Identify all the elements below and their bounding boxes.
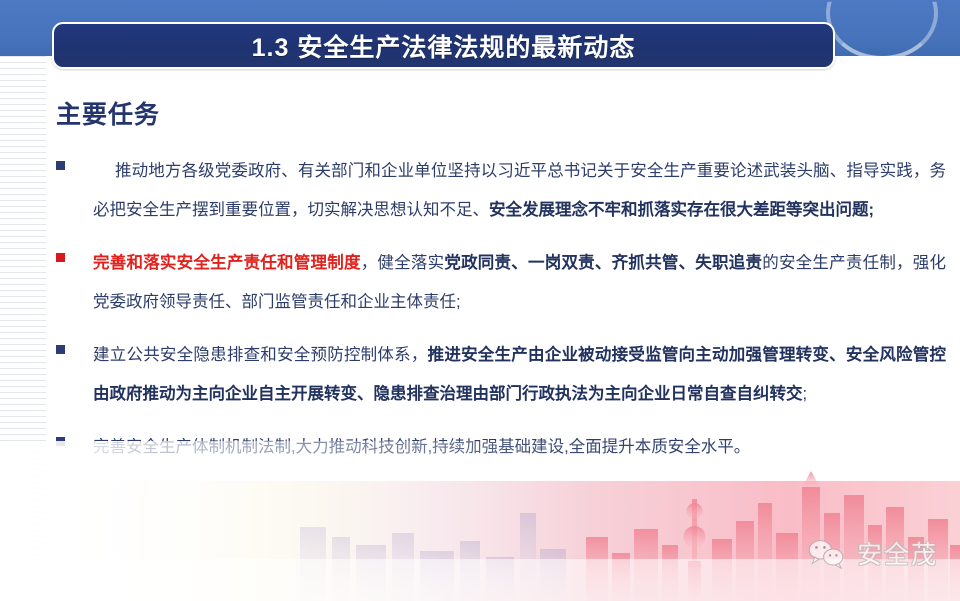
bullet-segment-emphasis: 党政同责、一岗双责、齐抓共管、失职追责 xyxy=(444,254,762,272)
wechat-icon xyxy=(805,537,847,569)
left-stripe-decoration xyxy=(0,56,46,601)
watermark: 安全茂 xyxy=(805,535,938,571)
bullet-list: 推动地方各级党委政府、有关部门和企业单位坚持以习近平总书记关于安全生产重要论述武… xyxy=(56,152,946,487)
bullet-marker-icon xyxy=(56,345,65,354)
list-item: 建立公共安全隐患排查和安全预防控制体系，推进安全生产由企业被动接受监管向主动加强… xyxy=(56,336,946,414)
bullet-marker-icon xyxy=(56,161,65,170)
presentation-slide: 1.3 安全生产法律法规的最新动态 主要任务 推动地方各级党委政府、有关部门和企… xyxy=(0,0,960,601)
bullet-segment: ; xyxy=(803,385,808,403)
bullet-segment-emphasis: 安全发展理念不牢和抓落实存在很大差距等突出问题; xyxy=(489,201,874,219)
section-heading: 主要任务 xyxy=(56,95,160,131)
bullet-segment: 完善安全生产体制机制法制,大力推动科技创新,持续加强基础建设,全面提升本质安全水… xyxy=(93,438,750,456)
slide-title-bar: 1.3 安全生产法律法规的最新动态 xyxy=(52,22,835,69)
watermark-label: 安全茂 xyxy=(857,535,938,571)
bullet-segment-highlight: 完善和落实安全生产责任和管理制度 xyxy=(93,254,361,272)
bullet-text: 推动地方各级党委政府、有关部门和企业单位坚持以习近平总书记关于安全生产重要论述武… xyxy=(93,152,946,230)
list-item: 推动地方各级党委政府、有关部门和企业单位坚持以习近平总书记关于安全生产重要论述武… xyxy=(56,152,946,230)
bullet-marker-icon xyxy=(56,253,65,262)
bullet-segment: ，健全落实 xyxy=(361,254,445,272)
list-item: 完善安全生产体制机制法制,大力推动科技创新,持续加强基础建设,全面提升本质安全水… xyxy=(56,428,946,467)
list-item: 完善和落实安全生产责任和管理制度，健全落实党政同责、一岗双责、齐抓共管、失职追责… xyxy=(56,244,946,322)
bullet-text: 完善和落实安全生产责任和管理制度，健全落实党政同责、一岗双责、齐抓共管、失职追责… xyxy=(93,244,946,322)
bullet-text: 建立公共安全隐患排查和安全预防控制体系，推进安全生产由企业被动接受监管向主动加强… xyxy=(93,336,946,414)
slide-title: 1.3 安全生产法律法规的最新动态 xyxy=(252,28,636,64)
bullet-text: 完善安全生产体制机制法制,大力推动科技创新,持续加强基础建设,全面提升本质安全水… xyxy=(93,428,946,467)
bullet-marker-icon xyxy=(56,437,65,446)
bullet-segment: 建立公共安全隐患排查和安全预防控制体系， xyxy=(93,346,428,364)
